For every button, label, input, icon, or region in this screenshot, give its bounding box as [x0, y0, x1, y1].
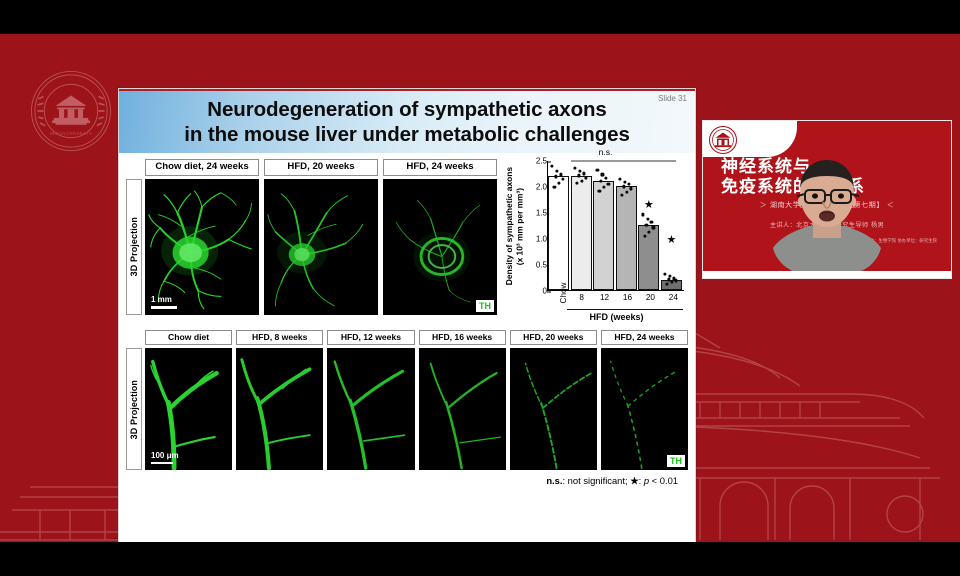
footnote-p-value: < 0.01 [649, 475, 678, 486]
chart-x-tick-label: 16 [617, 293, 638, 302]
chart-scatter-point [601, 173, 604, 176]
chart-bar [548, 176, 569, 290]
chart-hfd-group-line [567, 309, 683, 310]
chart-scatter-point [664, 273, 667, 276]
chart-bar [616, 186, 637, 290]
panel-caption: HFD, 24 weeks [383, 159, 497, 176]
chart-scatter-point [650, 221, 653, 224]
scale-bar: 1 mm [151, 295, 177, 309]
panel-caption: HFD, 20 weeks [510, 330, 597, 345]
chart-scatter-point [641, 213, 644, 216]
chart-bar-cell [548, 161, 569, 290]
chart-x-tick-label: 8 [571, 293, 592, 302]
y-axis-label-line2: (x 10³ mm per mm³) [514, 187, 524, 264]
presenter-avatar [763, 152, 891, 278]
micrograph-image: 100 μm [145, 348, 232, 470]
chart-scatter-point [556, 170, 559, 173]
chart-ns-annotation: n.s. [527, 147, 684, 157]
row-label-3d-projection: 3D Projection [126, 348, 142, 470]
video-player-screen: HUNAN UNIVERSITY [0, 0, 960, 576]
top-image-row: 1 mm [145, 179, 497, 315]
chart-bar-cell: ★ [638, 161, 659, 290]
title-line-2: in the mouse liver under metabolic chall… [184, 123, 630, 146]
presentation-stage: HUNAN UNIVERSITY [0, 34, 960, 542]
chart-y-tick: 2.0 [527, 183, 547, 192]
chart-x-tick-labels: Chow812162024 [548, 293, 684, 302]
footnote-ns-label: n.s. [546, 475, 562, 486]
chart-x-axis-label: HFD (weeks) [545, 312, 688, 322]
svg-text:HUNAN UNIVERSITY: HUNAN UNIVERSITY [50, 131, 92, 136]
chart-x-tick-text: Chow [559, 283, 568, 304]
chart-scatter-point [573, 167, 576, 170]
bottom-image-row-wrap: 3D Projection [126, 348, 688, 470]
chart-scatter-point [623, 180, 626, 183]
micrograph-image: TH [383, 179, 497, 315]
micrograph-image [327, 348, 414, 470]
chart-bar-cell [616, 161, 637, 290]
letterbox-top [0, 0, 960, 34]
chart-bar [638, 225, 659, 290]
micrograph-image: 1 mm [145, 179, 259, 315]
scale-bar: 100 μm [151, 451, 179, 465]
chart-x-tick-label: 24 [663, 293, 684, 302]
chart-y-tick: 0 [527, 287, 547, 296]
title-line-1: Neurodegeneration of sympathetic axons [207, 98, 606, 121]
figure-area: Chow diet, 24 weeks HFD, 20 weeks HFD, 2… [119, 153, 695, 491]
chart-y-tick: 2.5 [527, 157, 547, 166]
chart-y-axis-label: Density of sympathetic axons (x 10³ mm p… [503, 161, 525, 291]
y-axis-label-line1: Density of sympathetic axons [504, 167, 514, 285]
bottom-image-row: 100 μm [145, 348, 688, 470]
chart-scatter-point [605, 176, 608, 179]
top-image-row-wrap: 3D Projection [126, 179, 497, 315]
chart-y-tick: 0.5 [527, 261, 547, 270]
top-panel-captions: Chow diet, 24 weeks HFD, 20 weeks HFD, 2… [145, 159, 497, 176]
row-label-text: 3D Projection [129, 380, 139, 439]
chart-bar-cell [593, 161, 614, 290]
channel-tag: TH [667, 455, 685, 467]
chart-x-tick-label: 12 [594, 293, 615, 302]
chart-wrap: Density of sympathetic axons (x 10³ mm p… [505, 159, 688, 322]
participant-video-tile[interactable]: 神经系统与 免疫系统的疗关系 ＞ 湖南大学生物学院讲座【第七期】 ＜ 主讲人：北… [702, 120, 952, 279]
chart-x-tick-label: 20 [640, 293, 661, 302]
chart-significance-mark: ★ [666, 235, 676, 246]
panel-caption: Chow diet [145, 330, 232, 345]
slide-title-band: Slide 31 Neurodegeneration of sympatheti… [119, 89, 695, 153]
micrograph-image: TH [601, 348, 688, 470]
scale-bar-label: 100 μm [151, 451, 179, 460]
panel-caption: HFD, 20 weeks [264, 159, 378, 176]
chart-bar-cell: ★ [661, 161, 682, 290]
chart-bar [571, 176, 592, 290]
y-axis-label-text: Density of sympathetic axons (x 10³ mm p… [504, 167, 525, 285]
chart-x-tick-label: Chow [548, 293, 569, 302]
chart-plot-area: 00.51.01.52.02.5 n.s. ★★ [527, 161, 684, 291]
page-title: Neurodegeneration of sympathetic axons i… [119, 97, 695, 147]
row-label-text: 3D Projection [129, 217, 139, 276]
video-frame: 神经系统与 免疫系统的疗关系 ＞ 湖南大学生物学院讲座【第七期】 ＜ 主讲人：北… [703, 121, 951, 278]
row-label-3d-projection: 3D Projection [126, 179, 142, 315]
chart-scatter-point [596, 169, 599, 172]
figure-footnote: n.s.: not significant; ★: p < 0.01 [126, 475, 688, 487]
letterbox-bottom [0, 542, 960, 576]
panel-caption: Chow diet, 24 weeks [145, 159, 259, 176]
panel-caption: HFD, 12 weeks [327, 330, 414, 345]
chart-scatter-point [578, 170, 581, 173]
panel-caption: HFD, 8 weeks [236, 330, 323, 345]
micrograph-image [236, 348, 323, 470]
panel-caption: HFD, 24 weeks [601, 330, 688, 345]
footnote-ns-text: : not significant; [562, 475, 630, 486]
chart-scatter-point [646, 218, 649, 221]
slide-number: Slide 31 [658, 94, 687, 103]
footnote-star-icon: ★ [630, 475, 638, 486]
chart-bar-cell [571, 161, 592, 290]
micrograph-image [419, 348, 506, 470]
video-bottom-strip [703, 271, 951, 278]
channel-tag: TH [476, 300, 494, 312]
top-figure-block: Chow diet, 24 weeks HFD, 20 weeks HFD, 2… [126, 159, 688, 322]
top-micrograph-panels: Chow diet, 24 weeks HFD, 20 weeks HFD, 2… [126, 159, 497, 322]
chart-significance-mark: ★ [644, 200, 654, 211]
chart-scatter-point [618, 177, 621, 180]
chart-bar [593, 181, 614, 290]
chart-scatter-point [551, 165, 554, 168]
chart-y-tick: 1.5 [527, 209, 547, 218]
panel-caption: HFD, 16 weeks [419, 330, 506, 345]
university-logo-icon [708, 125, 738, 155]
bottom-figure-block: Chow diet HFD, 8 weeks HFD, 12 weeks HFD… [126, 330, 688, 487]
micrograph-image [264, 179, 378, 315]
bar-chart: Density of sympathetic axons (x 10³ mm p… [503, 159, 688, 322]
micrograph-image [510, 348, 597, 470]
chart-bars: ★★ [548, 161, 682, 290]
chart-y-tick: 1.0 [527, 235, 547, 244]
hunan-university-emblem-icon: HUNAN UNIVERSITY [28, 65, 114, 157]
scale-bar-label: 1 mm [151, 295, 172, 304]
bottom-panel-captions: Chow diet HFD, 8 weeks HFD, 12 weeks HFD… [145, 330, 688, 345]
slide-content: Slide 31 Neurodegeneration of sympatheti… [118, 88, 696, 542]
